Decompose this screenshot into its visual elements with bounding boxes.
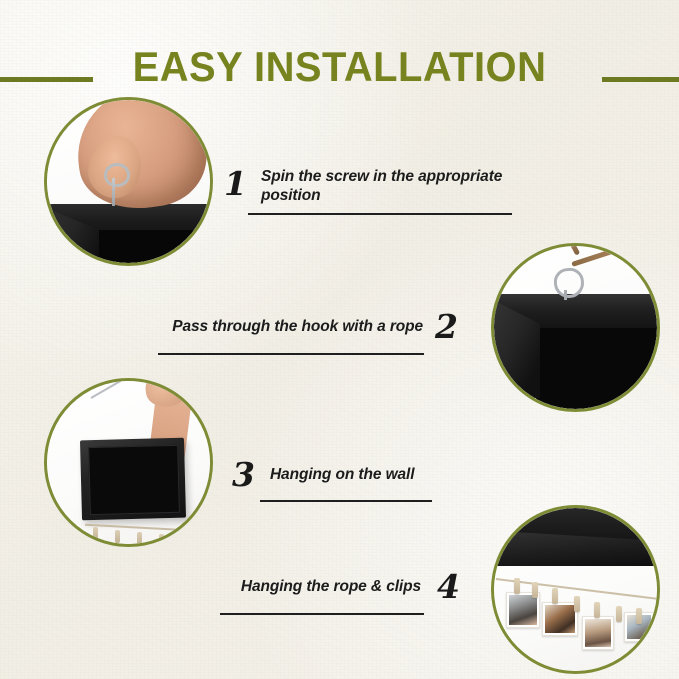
frame-mat — [88, 445, 180, 515]
clothes-clip — [514, 578, 520, 594]
clothes-clip — [93, 527, 98, 540]
step-2-text: Pass through the hook with a rope — [172, 318, 423, 337]
screw-shaft — [112, 178, 115, 206]
instruction-infographic: EASY INSTALLATION — [0, 0, 679, 679]
step-2-photo-inner — [494, 246, 657, 409]
clothes-clip — [159, 534, 164, 544]
step-2-caption: Pass through the hook with a rope 2 — [158, 310, 458, 355]
clipped-photo — [542, 602, 578, 636]
page-title: EASY INSTALLATION — [17, 44, 662, 90]
step-3-photo — [44, 378, 213, 547]
step-3-caption: 3 Hanging on the wall — [232, 458, 442, 502]
step-1-text: Spin the screw in the appropriate positi… — [261, 168, 516, 205]
clipped-photo — [582, 616, 614, 650]
step-3-text: Hanging on the wall — [270, 466, 415, 485]
step-2-number: 2 — [435, 310, 458, 344]
step-3-photo-inner — [47, 381, 210, 544]
step-1-number: 1 — [224, 167, 247, 201]
frame-body — [536, 328, 657, 409]
step-1-photo — [44, 97, 213, 266]
step-4-number: 4 — [437, 570, 460, 604]
clothes-clip — [532, 582, 538, 598]
step-1-caption: 1 Spin the screw in the appropriate posi… — [224, 165, 516, 215]
photo-image — [585, 619, 611, 647]
step-4-photo-inner — [494, 508, 657, 671]
clothes-clip — [552, 588, 558, 604]
step-1-underline — [248, 213, 512, 215]
clothes-clip — [115, 530, 120, 543]
step-4-row: Hanging the rope & clips 4 — [220, 570, 460, 604]
step-4-underline — [220, 613, 424, 615]
step-1-row: 1 Spin the screw in the appropriate posi… — [224, 165, 516, 205]
clothes-clip — [574, 596, 580, 612]
step-2-row: Pass through the hook with a rope 2 — [158, 310, 458, 344]
step-2-photo — [491, 243, 660, 412]
step-4-text: Hanging the rope & clips — [241, 578, 421, 597]
screw-shaft — [564, 290, 567, 300]
step-3-number: 3 — [232, 458, 255, 492]
photo-image — [545, 605, 575, 633]
step-4-photo — [491, 505, 660, 674]
picture-frame — [80, 438, 186, 521]
clothes-clip — [636, 608, 642, 624]
step-3-underline — [260, 500, 432, 502]
step-4-caption: Hanging the rope & clips 4 — [220, 570, 460, 615]
step-2-underline — [158, 353, 424, 355]
clothes-clip — [616, 606, 622, 622]
header: EASY INSTALLATION — [0, 26, 679, 82]
photo-image — [509, 595, 537, 625]
step-1-photo-inner — [47, 100, 210, 263]
clothes-clip — [594, 602, 600, 618]
frame-body — [97, 230, 210, 263]
clothes-clip — [181, 536, 186, 544]
clothes-clip — [137, 532, 142, 544]
step-3-row: 3 Hanging on the wall — [232, 458, 442, 492]
